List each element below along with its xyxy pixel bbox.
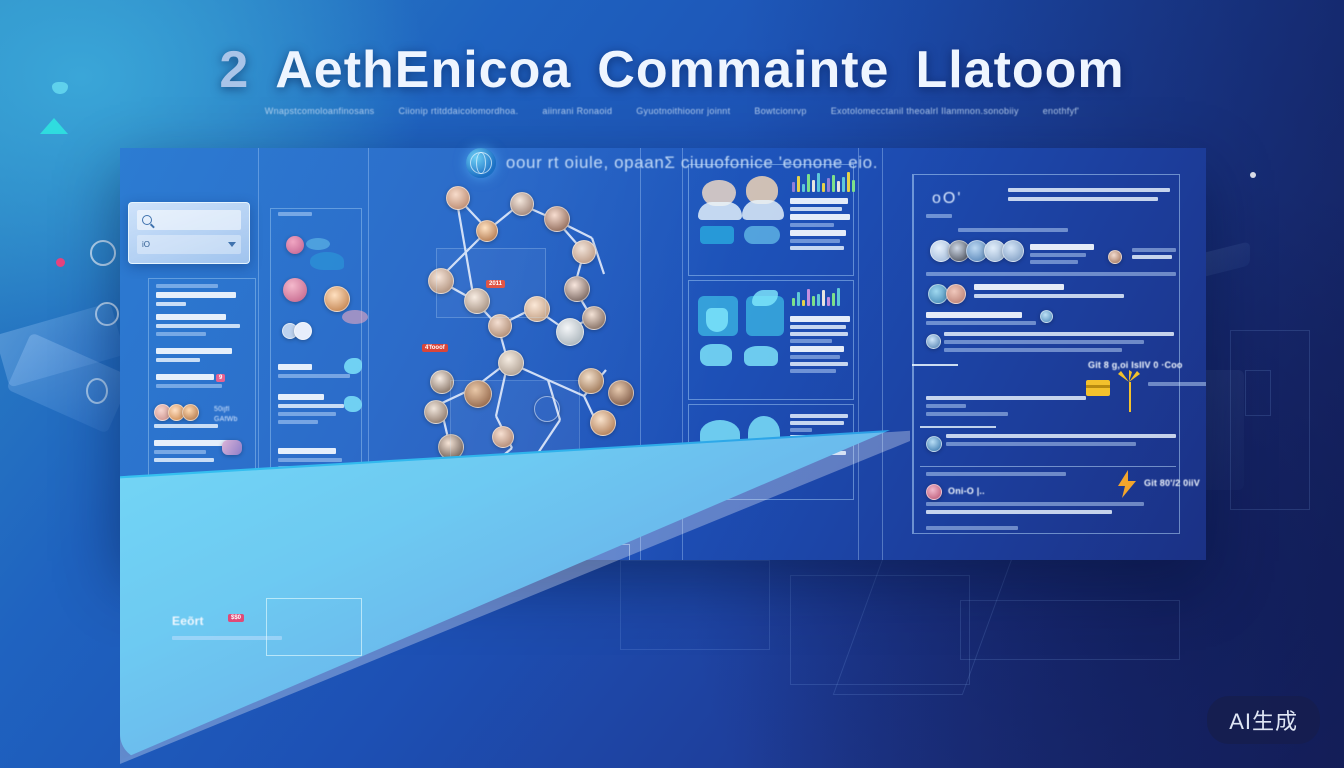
subtitle-item-5: Exotolomecctanil theoalrl Ilanmnon.sonob… xyxy=(831,106,1019,116)
details-label xyxy=(958,228,1078,232)
graph-node-avatar[interactable] xyxy=(608,380,634,406)
ghost-card-decor-4 xyxy=(1200,370,1244,490)
wireframe-box-4 xyxy=(960,600,1180,660)
details-link[interactable] xyxy=(926,312,1036,325)
list-item[interactable] xyxy=(156,374,248,388)
decor-blob xyxy=(310,252,344,270)
wireframe-box-6 xyxy=(1245,370,1271,416)
details-text-block xyxy=(1148,382,1206,386)
avatar[interactable] xyxy=(1040,310,1053,323)
page-title: 2AethEnicoaCommainteLlatoom xyxy=(219,40,1124,100)
details-text-block xyxy=(974,284,1124,298)
details-text-block xyxy=(926,272,1176,276)
list-item-meta: 50ijfl xyxy=(214,406,230,413)
decor-blob xyxy=(344,358,362,374)
graph-node-avatar[interactable] xyxy=(556,318,584,346)
title-part-2: Commainte xyxy=(597,41,889,99)
avatar[interactable] xyxy=(926,334,941,349)
details-footer xyxy=(926,526,1026,530)
graph-node-avatar[interactable] xyxy=(510,192,534,216)
graph-node-avatar[interactable] xyxy=(590,410,616,436)
avatar[interactable] xyxy=(283,278,307,302)
graph-node-avatar[interactable] xyxy=(424,400,448,424)
list-item[interactable] xyxy=(154,424,246,428)
decor-blob xyxy=(306,238,330,250)
feature-card-text xyxy=(790,316,852,373)
curl-frame xyxy=(266,598,362,656)
subtitle-row: Wnapstcomoloanfinosans Ciionip rtitddaic… xyxy=(0,106,1344,116)
graph-node-avatar[interactable] xyxy=(498,350,524,376)
status-badge: 9 xyxy=(216,374,225,382)
avatar[interactable] xyxy=(286,236,304,254)
mini-bar-chart xyxy=(792,288,840,306)
windmill-icon xyxy=(1116,370,1142,412)
search-card[interactable]: iO xyxy=(128,202,250,264)
details-small-text: Oni-O |.. xyxy=(948,486,985,496)
watermark-badge: AI生成 xyxy=(1207,696,1320,744)
column-divider-5 xyxy=(858,148,859,560)
avatar[interactable] xyxy=(926,436,942,452)
subtitle-item-6: enothfyf' xyxy=(1043,106,1079,116)
illustration-shape xyxy=(744,346,778,366)
avatar[interactable] xyxy=(946,284,966,304)
details-text-block xyxy=(926,396,1086,416)
subtitle-item-3: Gyuotnoithioonr joinnt xyxy=(636,106,730,116)
column-divider-6 xyxy=(882,148,883,560)
details-divider xyxy=(912,364,958,366)
graph-node-avatar[interactable] xyxy=(578,368,604,394)
graph-overlay-panel xyxy=(436,248,546,318)
title-part-1: AethEnicoa xyxy=(275,41,571,99)
tagline-text: oour rt oiule, opaanƩ ciuuofonice 'eonon… xyxy=(506,153,878,173)
globe-icon xyxy=(466,148,496,178)
search-input[interactable] xyxy=(137,210,241,230)
chevron-down-icon xyxy=(228,242,236,247)
avatar[interactable] xyxy=(324,286,350,312)
dot-decor-pink xyxy=(56,258,65,267)
search-icon xyxy=(142,215,152,225)
credit-card-icon-stripe xyxy=(1086,385,1110,388)
filter-select[interactable]: iO xyxy=(137,235,241,254)
illustration-shape xyxy=(742,200,784,220)
list-item[interactable] xyxy=(156,314,248,336)
avatar[interactable] xyxy=(294,322,312,340)
page-header: 2AethEnicoaCommainteLlatoom Wnapstcomolo… xyxy=(0,40,1344,116)
graph-node-avatar[interactable] xyxy=(564,276,590,302)
illustration-shape xyxy=(700,344,732,366)
details-label xyxy=(926,472,1076,476)
graph-node-avatar[interactable] xyxy=(476,220,498,242)
graph-node-avatar[interactable] xyxy=(446,186,470,210)
graph-label-chip: 4'fooof xyxy=(422,344,448,352)
details-text-block xyxy=(1030,244,1102,264)
curl-label-1: Eeo͂rt xyxy=(172,614,204,628)
avatar[interactable] xyxy=(1108,250,1122,264)
wireframe-box-1 xyxy=(620,560,770,650)
ring-decor-icon xyxy=(90,240,116,266)
details-divider-3 xyxy=(920,466,1176,467)
illustration-shape xyxy=(700,226,734,244)
curl-badge: $$0 xyxy=(228,614,244,622)
subtitle-item-2: aiinrani Ronaoid xyxy=(542,106,612,116)
details-text-block xyxy=(1008,188,1170,201)
filter-select-value: iO xyxy=(142,240,150,249)
details-text-block xyxy=(926,502,1146,514)
graph-node-avatar[interactable] xyxy=(544,206,570,232)
subtitle-item-0: Wnapstcomoloanfinosans xyxy=(265,106,375,116)
ring-decor-icon-3 xyxy=(86,378,108,404)
list-item[interactable] xyxy=(156,348,248,362)
details-highlight: Git 8 g,oi IsIIV 0 ·Coo xyxy=(1088,360,1183,370)
subtitle-item-4: Bowtcionrvp xyxy=(754,106,806,116)
details-link[interactable] xyxy=(1132,248,1178,259)
avatar[interactable] xyxy=(1002,240,1024,262)
list-item[interactable] xyxy=(156,284,248,306)
eyes-icon: oO' xyxy=(932,190,962,208)
details-text-block xyxy=(926,214,966,218)
illustration-shape xyxy=(744,226,780,244)
illustration-shape xyxy=(706,308,728,332)
lightning-bolt-icon xyxy=(1116,470,1138,498)
credit-card-icon xyxy=(1086,380,1110,396)
title-part-3: Llatoom xyxy=(915,41,1124,99)
details-text-block xyxy=(944,332,1174,352)
details-highlight-2: Git 80'/2 0iiV xyxy=(1144,478,1200,488)
details-text-block xyxy=(946,434,1176,446)
activity-header xyxy=(278,212,312,216)
graph-node-avatar[interactable] xyxy=(572,240,596,264)
title-part-0: 2 xyxy=(219,41,249,99)
triangle-decor-icon xyxy=(40,118,68,134)
tagline-row: oour rt oiule, opaanƩ ciuuofonice 'eonon… xyxy=(0,148,1344,178)
illustration-shape xyxy=(698,202,742,220)
list-item-meta: GAfWb xyxy=(214,416,238,423)
avatar[interactable] xyxy=(926,484,942,500)
details-divider-2 xyxy=(920,426,996,428)
avatar[interactable] xyxy=(222,440,242,455)
avatar[interactable] xyxy=(182,404,199,421)
feature-card-text xyxy=(790,198,852,250)
decor-blob xyxy=(342,310,368,324)
subtitle-item-1: Ciionip rtitddaicolomordhoa. xyxy=(398,106,518,116)
graph-node-avatar[interactable] xyxy=(582,306,606,330)
avatar[interactable] xyxy=(928,284,948,304)
decor-blob xyxy=(344,396,362,412)
